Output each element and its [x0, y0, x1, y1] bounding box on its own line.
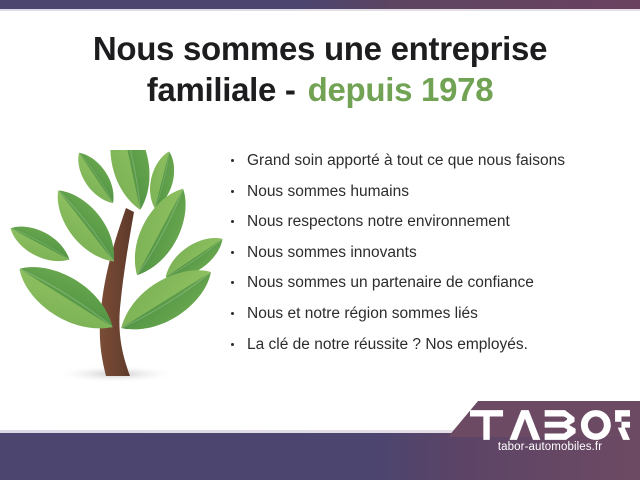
- bullet-dot-icon: [231, 251, 234, 254]
- page-title-accent-since: depuis 1978: [308, 71, 494, 108]
- tree-illustration: [8, 150, 228, 390]
- brand-lockup[interactable]: tabor-automobiles.fr: [470, 410, 630, 454]
- list-item-label: Nous sommes innovants: [247, 244, 417, 261]
- list-item: Grand soin apporté à tout ce que nous fa…: [228, 150, 628, 171]
- list-item: Nous sommes un partenaire de confiance: [228, 272, 628, 293]
- list-item-label: Nous sommes humains: [247, 183, 409, 200]
- list-item-label: Nous sommes un partenaire de confiance: [247, 274, 534, 291]
- list-item-label: Nous respectons notre environnement: [247, 213, 510, 230]
- benefits-list: Grand soin apporté à tout ce que nous fa…: [228, 150, 628, 364]
- page-title-line-1: Nous sommes une entreprise: [93, 30, 547, 67]
- tabor-wordmark-logo[interactable]: [470, 410, 630, 440]
- list-item-label: Nous et notre région sommes liés: [247, 305, 478, 322]
- tree-icon: [8, 150, 228, 390]
- bullet-dot-icon: [231, 343, 234, 346]
- top-accent-bar: [0, 0, 640, 9]
- page-title-line-2: familiale -depuis 1978: [0, 69, 640, 110]
- bullet-dot-icon: [231, 159, 234, 162]
- list-item: Nous respectons notre environnement: [228, 211, 628, 232]
- list-item-label: La clé de notre réussite ? Nos employés.: [247, 336, 528, 353]
- bullet-dot-icon: [231, 220, 234, 223]
- list-item: Nous et notre région sommes liés: [228, 303, 628, 324]
- page-title: Nous sommes une entreprise familiale -de…: [0, 28, 640, 110]
- top-accent-bar-underline: [0, 9, 640, 11]
- page-title-line-2-prefix: familiale -: [147, 71, 296, 108]
- slide-canvas: Nous sommes une entreprise familiale -de…: [0, 0, 640, 480]
- list-item: Nous sommes innovants: [228, 242, 628, 263]
- list-item: Nous sommes humains: [228, 181, 628, 202]
- list-item-label: Grand soin apporté à tout ce que nous fa…: [247, 152, 565, 169]
- bullet-dot-icon: [231, 190, 234, 193]
- bullet-dot-icon: [231, 312, 234, 315]
- list-item: La clé de notre réussite ? Nos employés.: [228, 334, 628, 355]
- brand-url[interactable]: tabor-automobiles.fr: [470, 441, 630, 454]
- bullet-dot-icon: [231, 281, 234, 284]
